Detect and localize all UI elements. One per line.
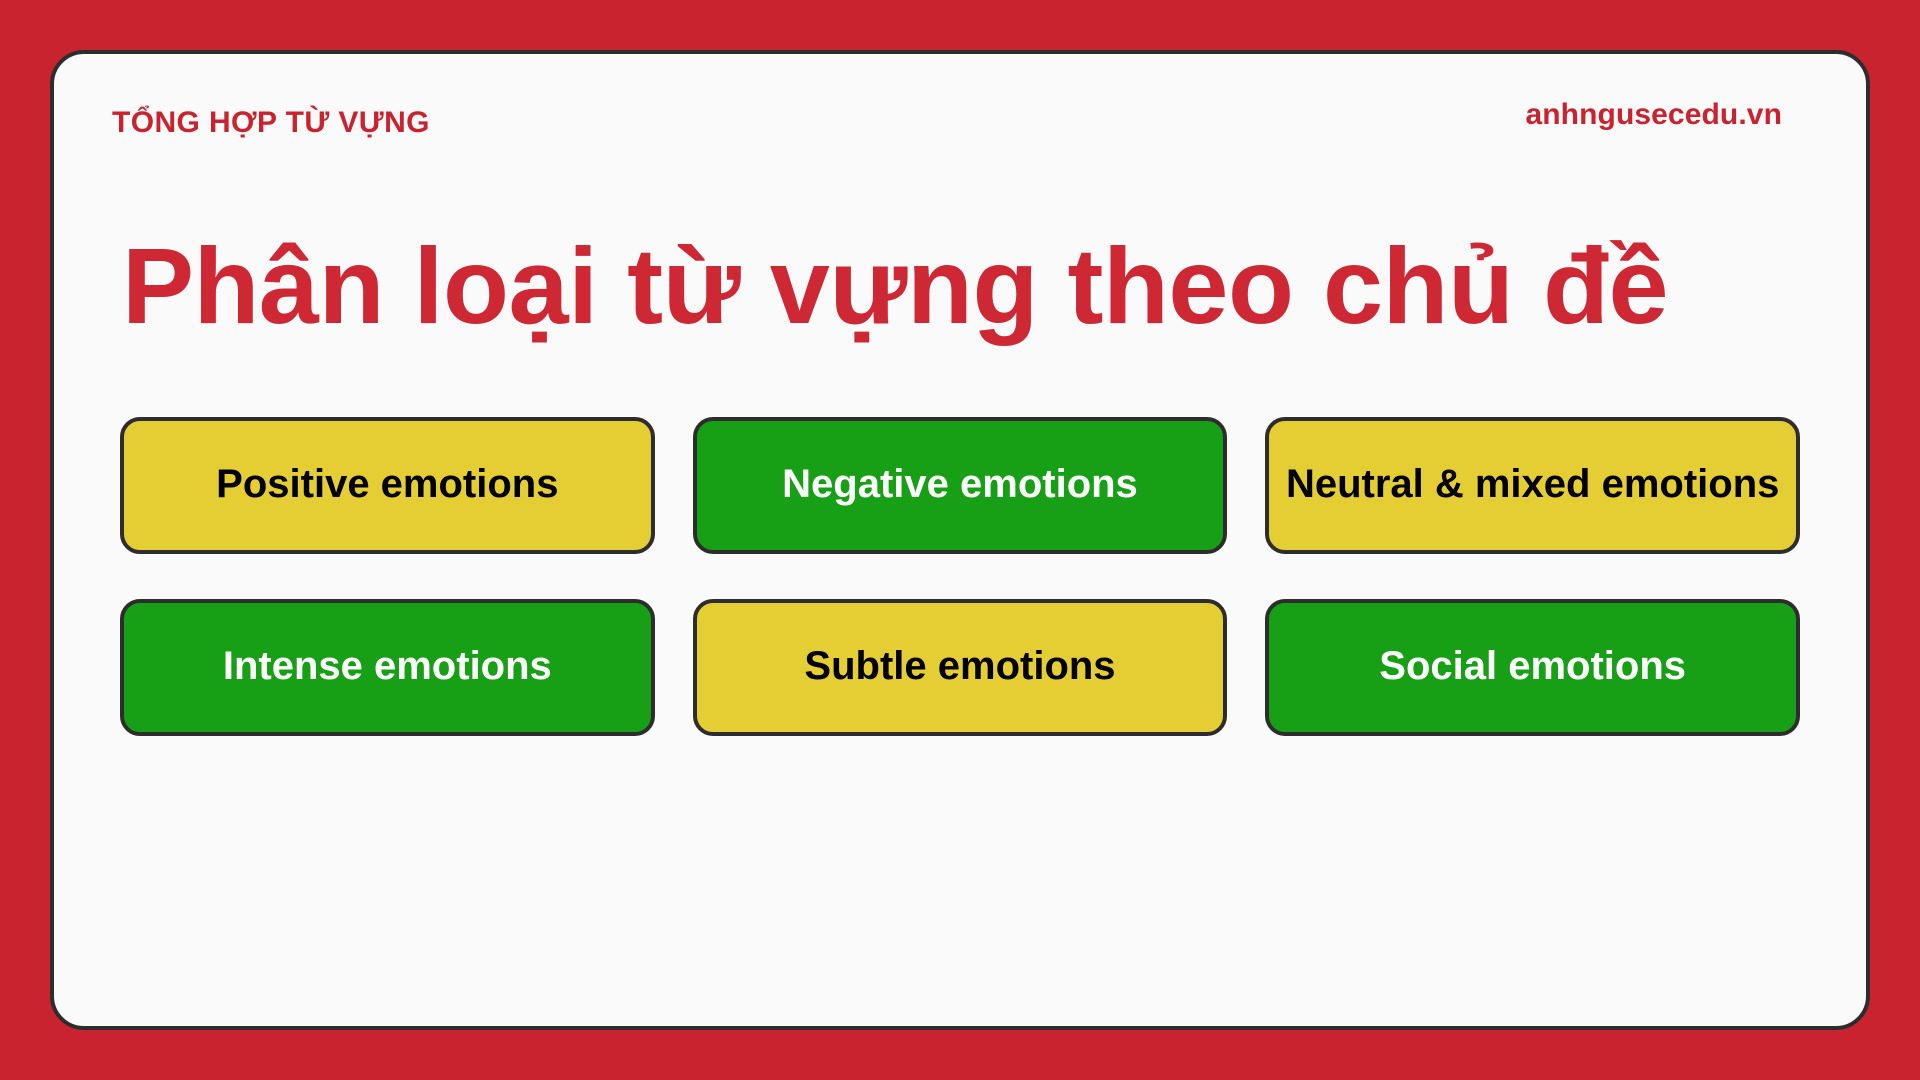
category-chip-label: Subtle emotions: [804, 644, 1115, 690]
site-url-label: anhngusecedu.vn: [1525, 98, 1782, 132]
poster-content: TỔNG HỢP TỪ VỰNG anhngusecedu.vn Phân lo…: [54, 54, 1866, 1026]
category-chip-label: Intense emotions: [223, 644, 552, 690]
category-grid: Positive emotions Negative emotions Neut…: [112, 417, 1808, 736]
poster-card: TỔNG HỢP TỪ VỰNG anhngusecedu.vn Phân lo…: [50, 50, 1870, 1030]
header-bar: TỔNG HỢP TỪ VỰNG anhngusecedu.vn: [112, 98, 1808, 172]
category-chip-label: Negative emotions: [782, 462, 1138, 508]
category-chip-positive-emotions[interactable]: Positive emotions: [120, 417, 655, 554]
category-chip-social-emotions[interactable]: Social emotions: [1265, 599, 1800, 736]
category-chip-negative-emotions[interactable]: Negative emotions: [693, 417, 1228, 554]
page-title: Phân loại từ vựng theo chủ đề: [112, 228, 1808, 345]
category-chip-label: Positive emotions: [216, 462, 558, 508]
category-chip-label: Neutral & mixed emotions: [1286, 462, 1779, 508]
category-chip-label: Social emotions: [1379, 644, 1686, 690]
category-chip-intense-emotions[interactable]: Intense emotions: [120, 599, 655, 736]
kicker-label: TỔNG HỢP TỪ VỰNG: [112, 106, 430, 140]
category-chip-subtle-emotions[interactable]: Subtle emotions: [693, 599, 1228, 736]
category-chip-neutral-mixed-emotions[interactable]: Neutral & mixed emotions: [1265, 417, 1800, 554]
